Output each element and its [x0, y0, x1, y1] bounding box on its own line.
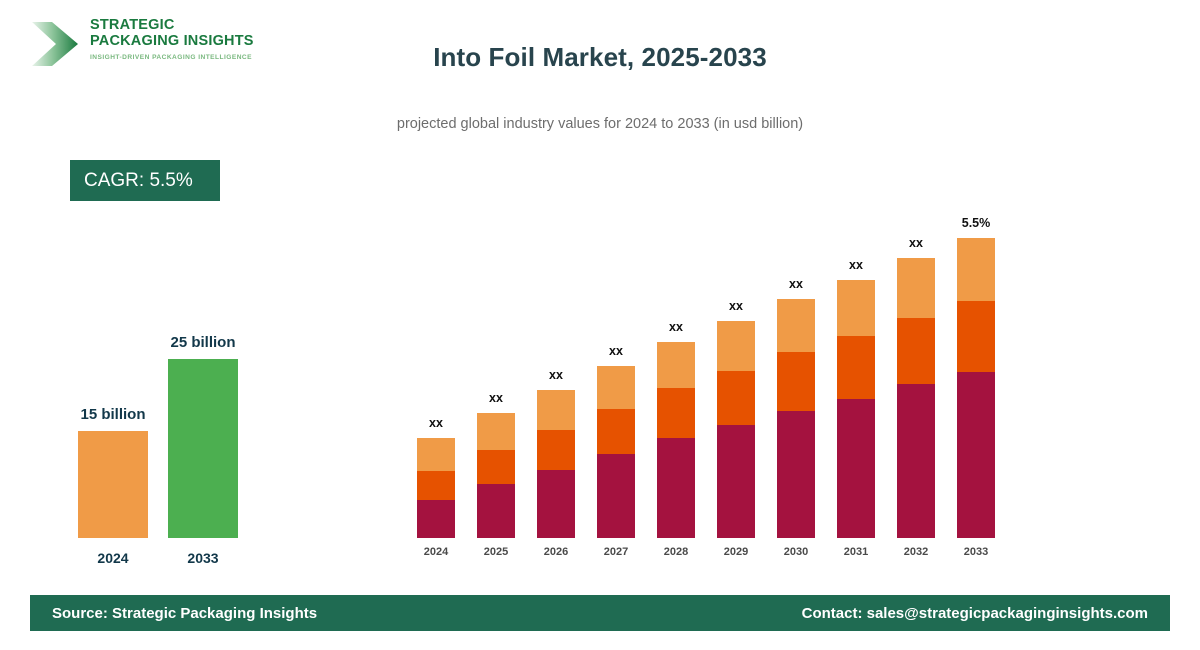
stacked-bar	[537, 390, 575, 538]
stacked-bar	[777, 299, 815, 538]
stacked-bar-segment	[957, 238, 995, 301]
footer-source: Source: Strategic Packaging Insights	[52, 605, 317, 622]
stacked-bar-segment	[477, 484, 515, 538]
stacked-bar-value-label: xx	[641, 320, 711, 334]
stacked-bar	[597, 366, 635, 538]
comparison-chart: 15 billion202425 billion2033	[60, 300, 300, 570]
comparison-bar	[78, 431, 148, 538]
brand-name-line-1: STRATEGIC	[90, 18, 280, 34]
stacked-bar	[417, 438, 455, 538]
stacked-bar-value-label: xx	[401, 416, 471, 430]
stacked-bar-segment	[897, 384, 935, 538]
stacked-bar-segment	[657, 438, 695, 538]
comparison-bar	[168, 359, 238, 538]
stacked-bar-segment	[477, 450, 515, 484]
stacked-bar-segment	[477, 413, 515, 450]
stacked-bar-segment	[777, 352, 815, 411]
stacked-bar-segment	[537, 470, 575, 538]
stacked-bar	[477, 413, 515, 538]
footer-bar: Source: Strategic Packaging Insights Con…	[30, 595, 1170, 631]
stacked-bar	[837, 280, 875, 538]
stacked-bar-segment	[417, 500, 455, 538]
stacked-bar-value-label: xx	[521, 368, 591, 382]
stacked-bar-value-label: xx	[461, 391, 531, 405]
stacked-bar-segment	[537, 430, 575, 470]
stacked-bar-segment	[777, 299, 815, 352]
stacked-bar-value-label: xx	[761, 277, 831, 291]
cagr-badge-label: CAGR: 5.5%	[84, 170, 193, 192]
stacked-bar-segment	[777, 411, 815, 538]
comparison-value-label: 25 billion	[123, 334, 283, 351]
cagr-badge: CAGR: 5.5%	[70, 160, 220, 201]
stacked-bar-value-label: xx	[821, 258, 891, 272]
stacked-bar-value-label: 5.5%	[941, 216, 1011, 230]
stacked-bar-segment	[417, 438, 455, 471]
stacked-bar-segment	[957, 301, 995, 372]
stacked-bar-segment	[717, 371, 755, 425]
stacked-bar	[717, 321, 755, 538]
stacked-bar-segment	[897, 258, 935, 318]
stacked-bar-segment	[417, 471, 455, 500]
stacked-bar-segment	[597, 366, 635, 409]
stacked-bar-segment	[537, 390, 575, 430]
stacked-bar-value-label: xx	[701, 299, 771, 313]
stacked-bar-segment	[657, 388, 695, 438]
stacked-bar	[897, 258, 935, 538]
stacked-bar-segment	[657, 342, 695, 388]
stacked-bar-segment	[837, 280, 875, 336]
stacked-bar-segment	[597, 409, 635, 454]
stacked-bar	[657, 342, 695, 538]
stacked-bar-chart: xx2024xx2025xx2026xx2027xx2028xx2029xx20…	[400, 200, 1020, 560]
comparison-year-label: 2033	[143, 550, 263, 566]
stacked-bar-segment	[837, 399, 875, 538]
stacked-bar-value-label: xx	[581, 344, 651, 358]
stacked-bar-segment	[957, 372, 995, 538]
stacked-bar-segment	[837, 336, 875, 399]
stacked-bar-value-label: xx	[881, 236, 951, 250]
stacked-bar-segment	[897, 318, 935, 384]
stacked-bar-segment	[597, 454, 635, 538]
stacked-bar	[957, 238, 995, 538]
page-subtitle: projected global industry values for 202…	[0, 116, 1200, 132]
stacked-bar-year-label: 2033	[941, 546, 1011, 558]
footer-contact: Contact: sales@strategicpackaginginsight…	[802, 605, 1148, 622]
stacked-bar-segment	[717, 425, 755, 538]
page-title: Into Foil Market, 2025-2033	[0, 42, 1200, 73]
stacked-bar-segment	[717, 321, 755, 371]
